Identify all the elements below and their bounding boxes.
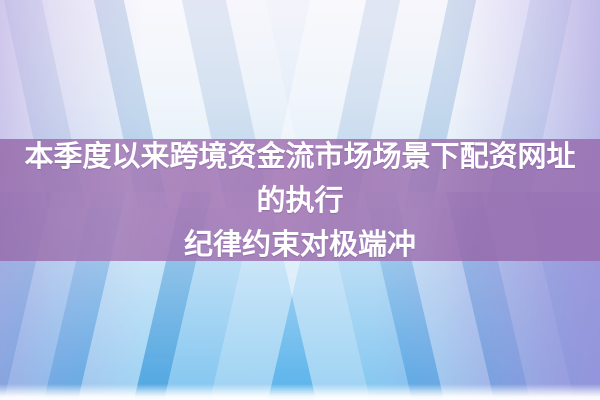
- banner-title-line-1: 本季度以来跨境资金流市场场景下配资网址的执行: [13, 134, 587, 222]
- banner-image: 本季度以来跨境资金流市场场景下配资网址的执行 纪律约束对极端冲: [0, 0, 600, 400]
- bottom-fade: [0, 384, 600, 400]
- title-band: 本季度以来跨境资金流市场场景下配资网址的执行 纪律约束对极端冲: [0, 139, 600, 261]
- banner-title-line-2: 纪律约束对极端冲: [13, 222, 587, 266]
